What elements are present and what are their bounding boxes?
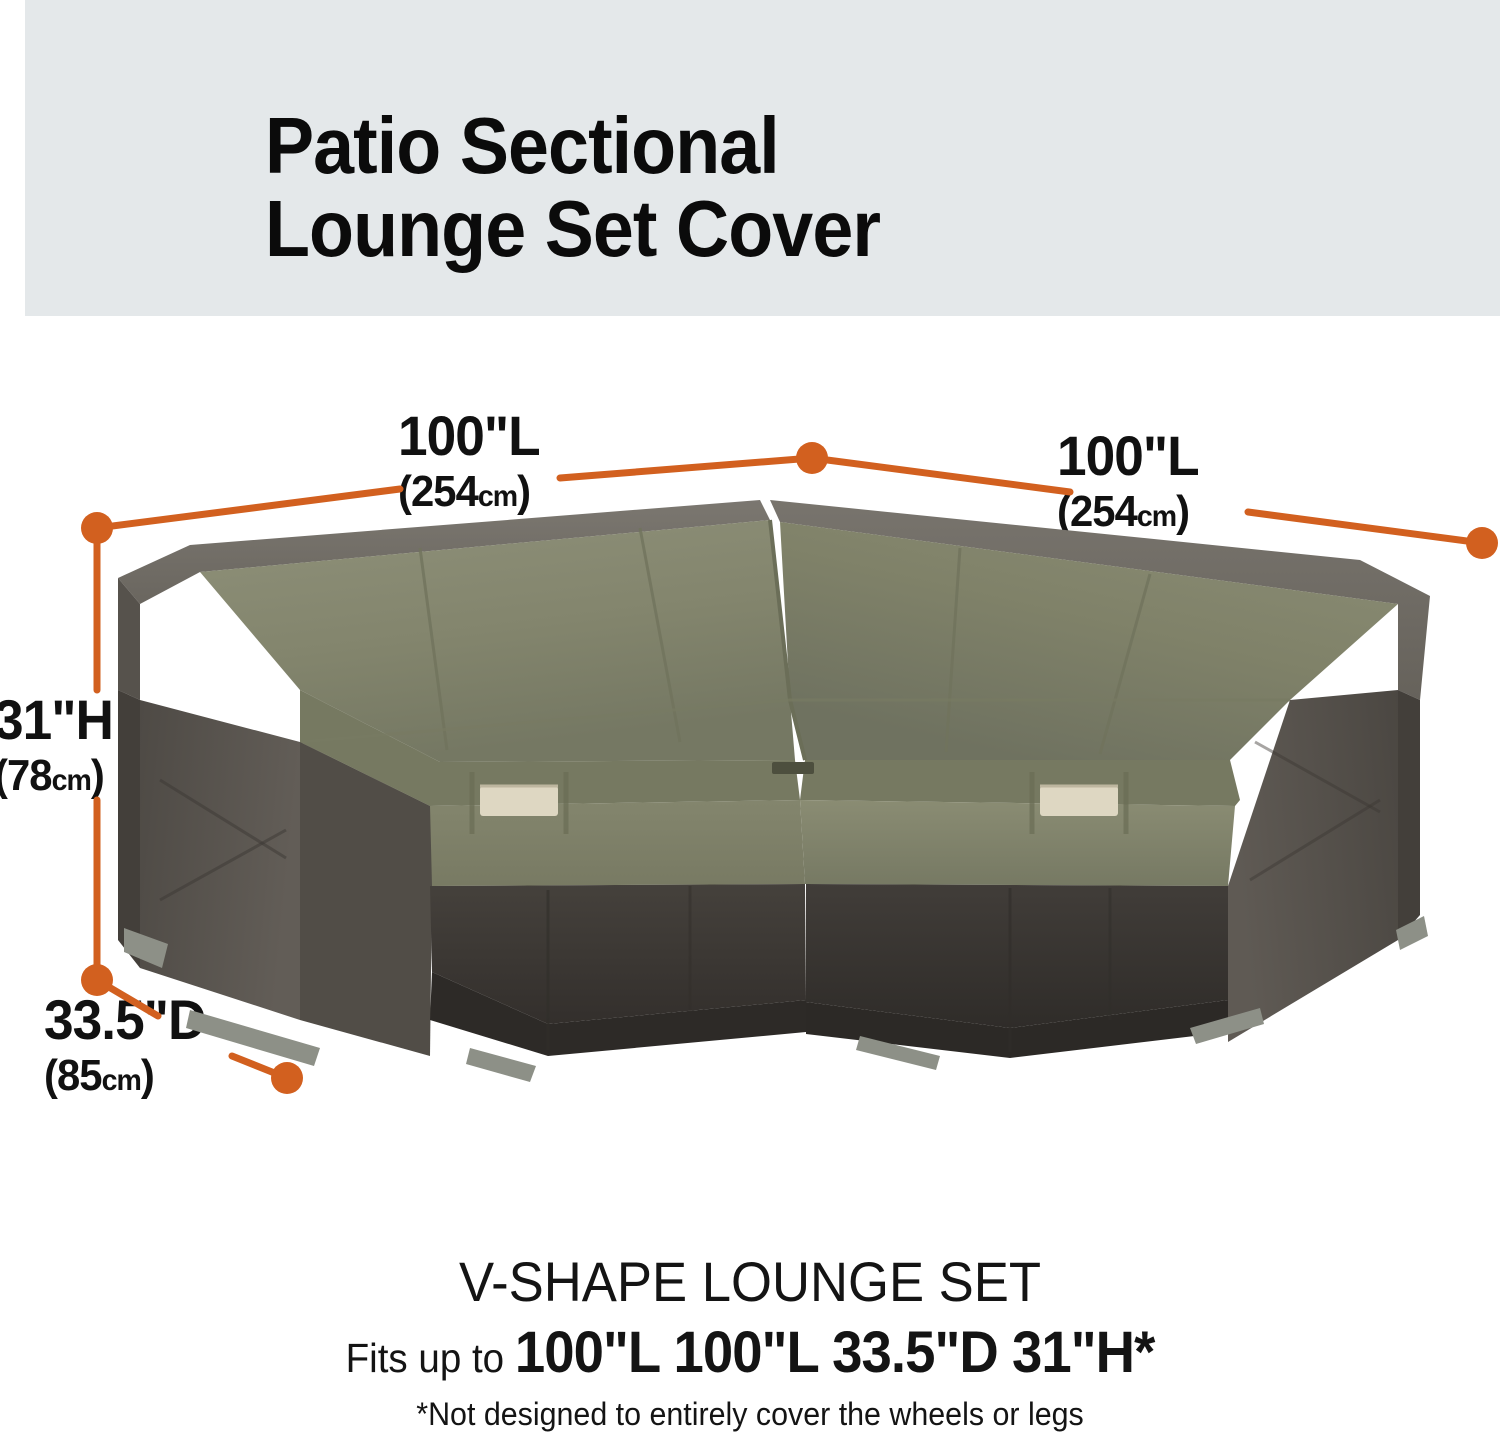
callout-dot-top-center xyxy=(796,442,828,474)
callout-dot-depth-end xyxy=(271,1062,303,1094)
product-infographic: Patio Sectional Lounge Set Cover xyxy=(0,0,1500,1452)
callout-dot-top-right xyxy=(1466,527,1498,559)
callout-dot-bottom-left xyxy=(81,964,113,996)
dimension-callouts xyxy=(0,0,1500,1452)
callout-dot-top-left xyxy=(81,512,113,544)
